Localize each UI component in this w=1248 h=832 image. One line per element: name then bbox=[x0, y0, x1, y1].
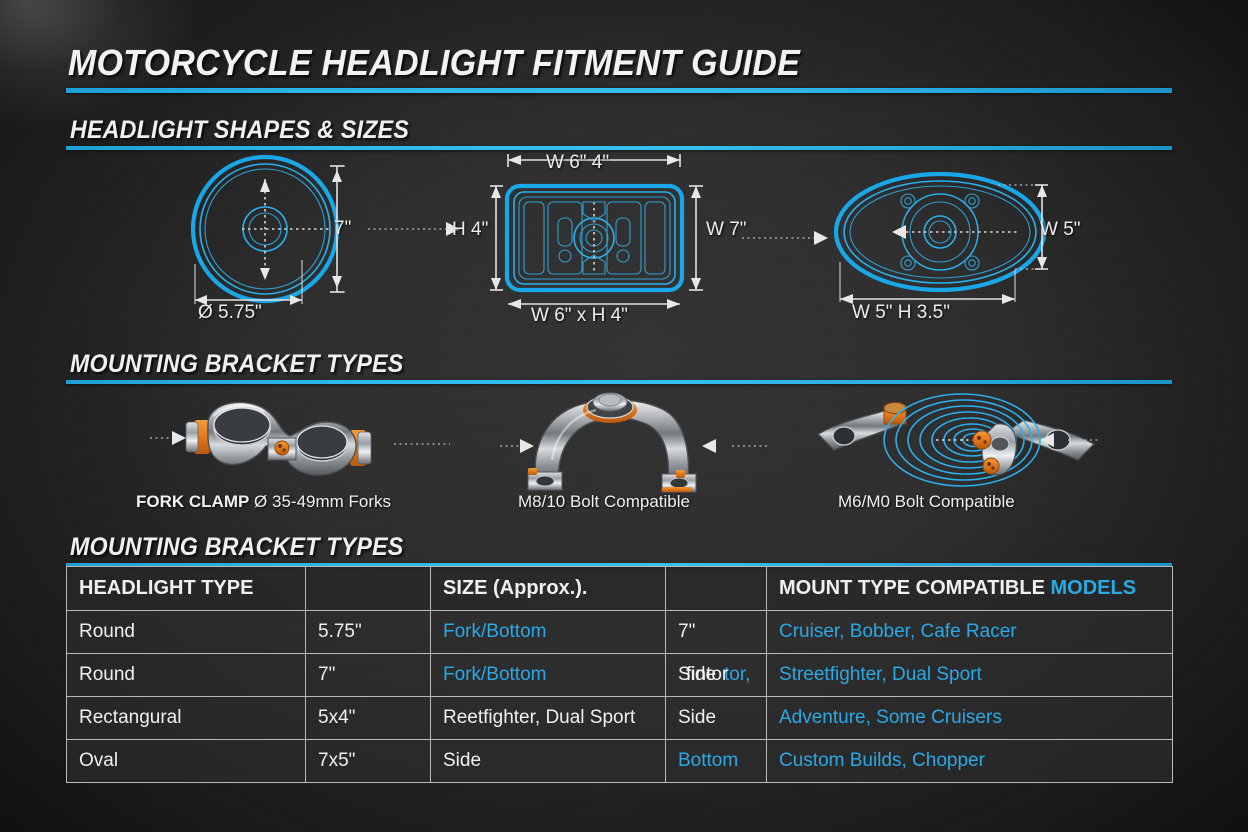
column-header-blank-1 bbox=[306, 567, 431, 611]
oval-bottom-label: W 5" H 3.5" bbox=[852, 302, 950, 324]
table-row: Oval 7x5" Side Bottom Custom Builds, Cho… bbox=[67, 740, 1173, 783]
cell-models: Adventure, Some Cruisers bbox=[767, 697, 1173, 740]
cell-size: 7" bbox=[306, 654, 431, 697]
fitment-table: HEADLIGHT TYPE SIZE (Approx.). MOUNT TYP… bbox=[66, 566, 1173, 783]
fork-clamp-label-bold: FORK CLAMP bbox=[136, 492, 249, 511]
bracket-caption-fork-clamp: FORK CLAMP Ø 35-49mm Forks bbox=[136, 492, 391, 512]
fork-clamp-illustration bbox=[150, 388, 450, 493]
table-row: Round 5.75" Fork/Bottom 7" Cruiser, Bobb… bbox=[67, 611, 1173, 654]
cell-size: 5x4" bbox=[306, 697, 431, 740]
table-row: Rectangural 5x4" Reetfighter, Dual Sport… bbox=[67, 697, 1173, 740]
title-underline-rule bbox=[66, 88, 1172, 93]
cell-position: Side bbox=[666, 697, 767, 740]
cell-mount: Fork/Bottom bbox=[431, 654, 666, 697]
cell-position: Bottom bbox=[666, 740, 767, 783]
cell-type: Rectangural bbox=[67, 697, 306, 740]
cell-mount: Side bbox=[431, 740, 666, 783]
page-title: MOTORCYCLE HEADLIGHT FITMENT GUIDE bbox=[68, 42, 800, 84]
cell-mount: Fork/Bottom bbox=[431, 611, 666, 654]
position-text: Side bbox=[678, 664, 716, 685]
table-row: Round 7" Fork/Bottom Side fintor tor, St… bbox=[67, 654, 1173, 697]
rect-bottom-label: W 6" x H 4" bbox=[531, 305, 628, 327]
rect-left-label: H 4" bbox=[452, 219, 488, 241]
bracket-caption-side-mount: M6/M0 Bolt Compatible bbox=[838, 492, 1015, 512]
column-header-mount-models: MOUNT TYPE COMPATIBLE MODELS bbox=[767, 567, 1173, 611]
oval-right-label: W 5" bbox=[1040, 219, 1081, 241]
rect-right-label: W 7" bbox=[706, 219, 747, 241]
bracket-caption-u-bracket: M8/10 Bolt Compatible bbox=[518, 492, 690, 512]
cell-models: Custom Builds, Chopper bbox=[767, 740, 1173, 783]
column-header-headlight-type: HEADLIGHT TYPE bbox=[67, 567, 306, 611]
column-header-blank-2 bbox=[666, 567, 767, 611]
round-height-label: 7" bbox=[334, 218, 351, 240]
mount-type-compatible-text: MOUNT TYPE COMPATIBLE bbox=[779, 577, 1050, 599]
cell-size: 7x5" bbox=[306, 740, 431, 783]
cell-size: 5.75" bbox=[306, 611, 431, 654]
shapes-section-rule bbox=[66, 146, 1172, 150]
cell-type: Oval bbox=[67, 740, 306, 783]
cell-position: 7" bbox=[666, 611, 767, 654]
cell-models: Cruiser, Bobber, Cafe Racer bbox=[767, 611, 1173, 654]
cell-type: Round bbox=[67, 611, 306, 654]
side-mount-bracket-illustration bbox=[810, 388, 1100, 493]
models-text: MODELS bbox=[1050, 577, 1136, 599]
column-header-size: SIZE (Approx.). bbox=[431, 567, 666, 611]
cell-position: Side fintor tor, bbox=[666, 654, 767, 697]
round-diameter-label: Ø 5.75" bbox=[198, 302, 262, 324]
section-title-brackets: MOUNTING BRACKET TYPES bbox=[70, 350, 403, 379]
fork-clamp-label-rest: Ø 35-49mm Forks bbox=[249, 492, 391, 511]
position-overlap-group: Side fintor bbox=[678, 664, 716, 686]
cell-type: Round bbox=[67, 654, 306, 697]
brackets-section-rule bbox=[66, 380, 1172, 384]
section-title-table: MOUNTING BRACKET TYPES bbox=[70, 533, 403, 562]
section-title-shapes: HEADLIGHT SHAPES & SIZES bbox=[70, 116, 409, 145]
u-bracket-illustration bbox=[500, 388, 770, 493]
table-header-row: HEADLIGHT TYPE SIZE (Approx.). MOUNT TYP… bbox=[67, 567, 1173, 611]
cell-models: Streetfighter, Dual Sport bbox=[767, 654, 1173, 697]
rect-top-label: W 6" 4" bbox=[546, 152, 609, 174]
cell-mount: Reetfighter, Dual Sport bbox=[431, 697, 666, 740]
